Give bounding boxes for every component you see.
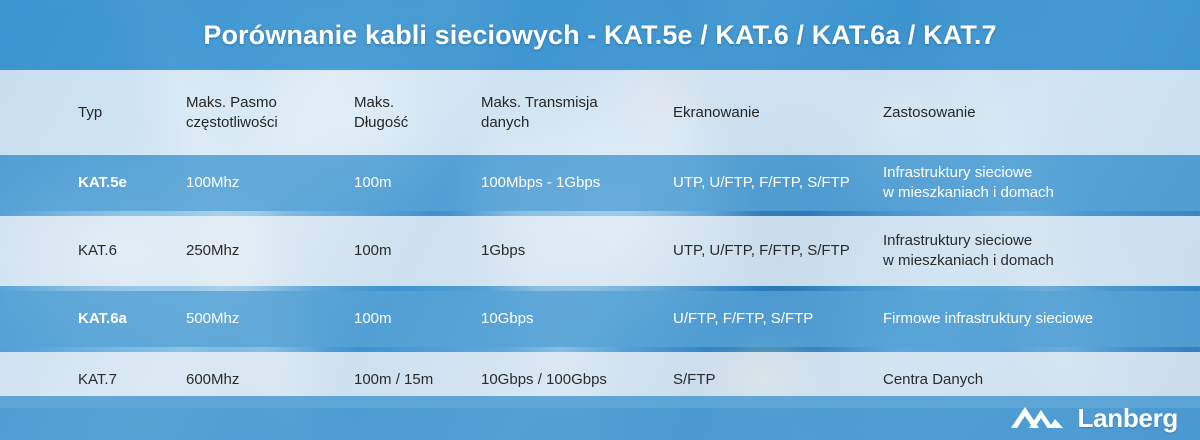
cell-type: KAT.5e — [78, 173, 186, 193]
header-application: Zastosowanie — [883, 103, 1183, 123]
header-bandwidth-line2: częstotliwości — [186, 113, 342, 133]
page-title: Porównanie kabli sieciowych - KAT.5e / K… — [203, 20, 996, 51]
cell-application: Infrastruktury sieciowe w mieszkaniach i… — [883, 163, 1183, 203]
cell-application-line2: w mieszkaniach i domach — [883, 183, 1171, 203]
header-speed: Maks. Transmisja danych — [481, 93, 673, 133]
cell-speed: 100Mbps - 1Gbps — [481, 173, 673, 193]
cell-length: 100m — [354, 173, 481, 193]
header-type: Typ — [78, 103, 186, 123]
cell-application-line1: Infrastruktury sieciowe — [883, 231, 1171, 251]
cell-speed: 1Gbps — [481, 241, 673, 261]
cell-length: 100m — [354, 309, 481, 329]
table-row: KAT.6a 500Mhz 100m 10Gbps U/FTP, F/FTP, … — [0, 291, 1200, 347]
header-length: Maks. Długość — [354, 93, 481, 133]
title-banner: Porównanie kabli sieciowych - KAT.5e / K… — [0, 0, 1200, 70]
cell-application: Centra Danych — [883, 370, 1183, 390]
cell-bandwidth: 500Mhz — [186, 309, 354, 329]
cell-shielding: UTP, U/FTP, F/FTP, S/FTP — [673, 241, 883, 261]
header-length-line1: Maks. — [354, 93, 469, 113]
header-shielding: Ekranowanie — [673, 103, 883, 123]
cell-type: KAT.6 — [78, 241, 186, 261]
infographic-root: Porównanie kabli sieciowych - KAT.5e / K… — [0, 0, 1200, 440]
cell-shielding: U/FTP, F/FTP, S/FTP — [673, 309, 883, 329]
mountain-peaks-icon — [1009, 403, 1071, 434]
comparison-table: Typ Maks. Pasmo częstotliwości Maks. Dłu… — [0, 70, 1200, 408]
brand-logo: Lanberg — [1009, 403, 1178, 434]
brand-name: Lanberg — [1078, 405, 1178, 431]
cell-length: 100m — [354, 241, 481, 261]
cell-application-line1: Infrastruktury sieciowe — [883, 163, 1171, 183]
cell-shielding: S/FTP — [673, 370, 883, 390]
cell-bandwidth: 600Mhz — [186, 370, 354, 390]
header-speed-line2: danych — [481, 113, 661, 133]
cell-bandwidth: 250Mhz — [186, 241, 354, 261]
table-row: KAT.6 250Mhz 100m 1Gbps UTP, U/FTP, F/FT… — [0, 216, 1200, 286]
header-length-line2: Długość — [354, 113, 469, 133]
cell-length: 100m / 15m — [354, 370, 481, 390]
table-row: KAT.5e 100Mhz 100m 100Mbps - 1Gbps UTP, … — [0, 155, 1200, 211]
footer-bar: Lanberg — [0, 396, 1200, 440]
header-speed-line1: Maks. Transmisja — [481, 93, 661, 113]
cell-application: Infrastruktury sieciowe w mieszkaniach i… — [883, 231, 1183, 271]
cell-application-line2: w mieszkaniach i domach — [883, 251, 1171, 271]
cell-speed: 10Gbps / 100Gbps — [481, 370, 673, 390]
cell-shielding: UTP, U/FTP, F/FTP, S/FTP — [673, 173, 883, 193]
cell-speed: 10Gbps — [481, 309, 673, 329]
cell-application: Firmowe infrastruktury sieciowe — [883, 309, 1183, 329]
header-bandwidth-line1: Maks. Pasmo — [186, 93, 342, 113]
cell-type: KAT.6a — [78, 309, 186, 329]
table-header-row: Typ Maks. Pasmo częstotliwości Maks. Dłu… — [0, 70, 1200, 155]
cell-type: KAT.7 — [78, 370, 186, 390]
header-bandwidth: Maks. Pasmo częstotliwości — [186, 93, 354, 133]
cell-bandwidth: 100Mhz — [186, 173, 354, 193]
